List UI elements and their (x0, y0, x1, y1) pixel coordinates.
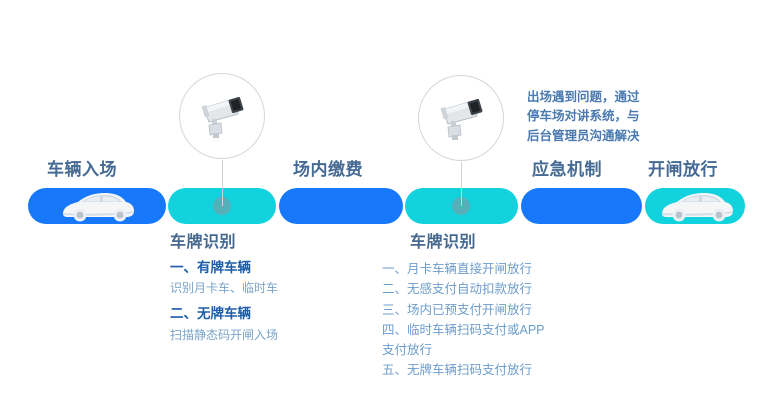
list-item: 四、临时车辆扫码支付或APP 支付放行 (382, 320, 545, 361)
emergency-note-text: 出场遇到问题，通过 停车场对讲系统，与 后台管理员沟通解决 (527, 88, 640, 146)
stage-label-plate-recognition-1: 车牌识别 (170, 228, 236, 252)
stage-segment-emergency[interactable] (521, 188, 642, 224)
cctv-camera-icon (197, 92, 249, 140)
stage-segment-onsite-payment[interactable] (279, 188, 403, 224)
stage-label-plate-recognition-2: 车牌识别 (410, 228, 476, 252)
stage-label-vehicle-entry: 车辆入场 (47, 155, 117, 180)
stage-label-gate-release: 开闸放行 (648, 155, 718, 180)
list-item: 五、无牌车辆扫码支付放行 (382, 360, 545, 380)
cctv-camera-icon (436, 94, 488, 142)
list-item: 三、场内已预支付开闸放行 (382, 300, 545, 320)
diagram-canvas: 车辆入场 场内缴费 应急机制 开闸放行 车牌识别 车牌识别 (0, 0, 765, 418)
camera-connector-line (222, 160, 223, 206)
list-item-subtext: 识别月卡车、临时车 (170, 279, 278, 297)
exit-details-list: 一、月卡车辆直接开闸放行 二、无感支付自动扣款放行 三、场内已预支付开闸放行 四… (382, 259, 545, 381)
white-car-icon (58, 190, 136, 224)
list-item-heading: 二、无牌车辆 (170, 304, 278, 324)
list-item: 二、无感支付自动扣款放行 (382, 279, 545, 299)
list-item: 一、月卡车辆直接开闸放行 (382, 259, 545, 279)
entry-details-list: 一、有牌车辆 识别月卡车、临时车 二、无牌车辆 扫描静态码开闸入场 (170, 258, 278, 344)
stage-label-onsite-payment: 场内缴费 (293, 155, 363, 180)
stage-label-emergency: 应急机制 (532, 155, 602, 180)
white-car-icon (657, 190, 735, 224)
list-item-subtext: 扫描静态码开闸入场 (170, 326, 278, 344)
camera-connector-line (461, 162, 462, 206)
list-item-heading: 一、有牌车辆 (170, 258, 278, 278)
